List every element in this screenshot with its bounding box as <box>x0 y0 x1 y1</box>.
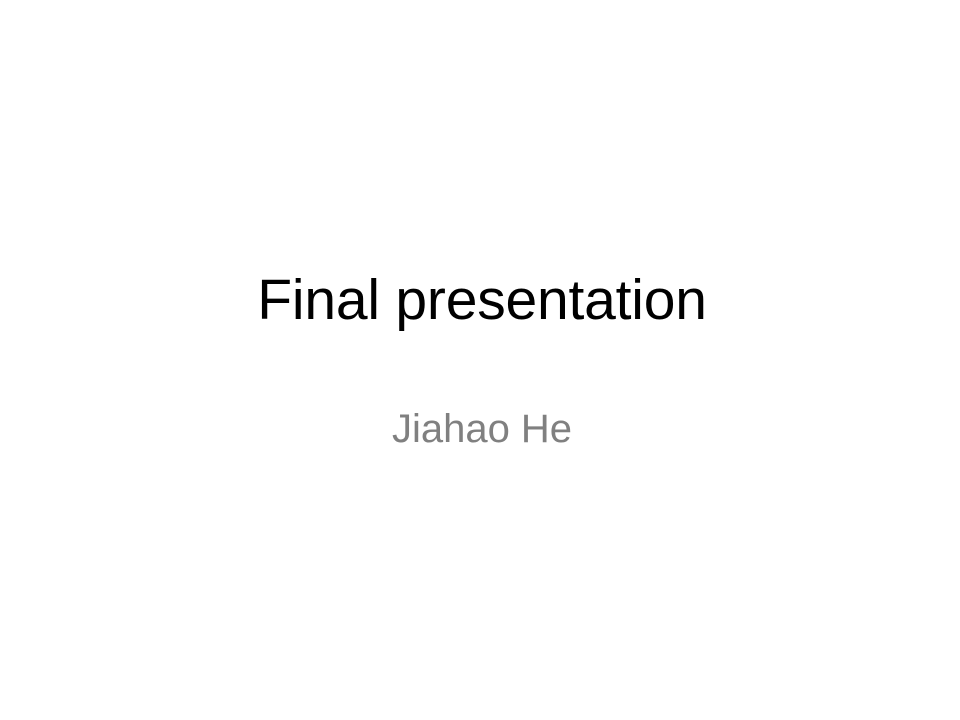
slide-subtitle: Jiahao He <box>392 406 572 453</box>
title-placeholder[interactable]: Final presentation <box>72 252 892 348</box>
subtitle-placeholder[interactable]: Jiahao He <box>144 406 820 470</box>
presentation-slide: Final presentation Jiahao He <box>0 0 960 720</box>
slide-title: Final presentation <box>257 269 707 332</box>
